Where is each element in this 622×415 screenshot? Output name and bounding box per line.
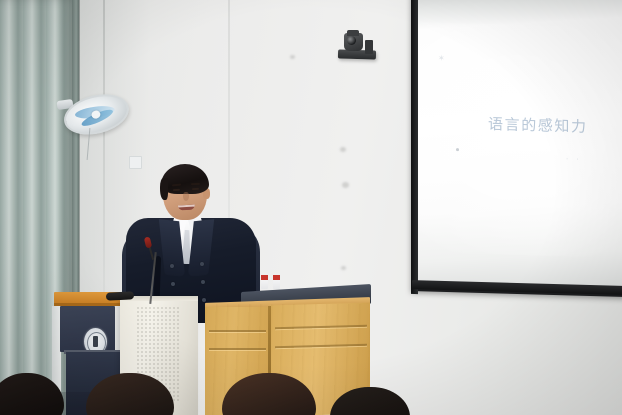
lectern-panel-groove: [209, 348, 266, 350]
microphone-base: [106, 291, 134, 300]
podium-emblem-panel: [60, 306, 115, 352]
suit-button: [170, 264, 174, 268]
slide-bullet-dot: [456, 148, 459, 151]
wall-scuff-1: [340, 147, 346, 152]
camera-lens-icon: [347, 36, 356, 45]
suit-button: [201, 280, 205, 284]
slide-subtitle-text: · ·: [566, 155, 582, 163]
hair-sideburn: [160, 178, 168, 200]
slide-title-text: 语言的感知力: [488, 113, 588, 137]
nose: [183, 192, 189, 201]
wall-scuff-3: [341, 266, 346, 270]
bottle-cap: [261, 275, 268, 280]
slide-logo-mark: ✶: [438, 54, 446, 63]
suit-button: [200, 262, 204, 266]
lectern-panel-groove: [209, 330, 266, 332]
wall-scuff-4: [290, 55, 295, 59]
camera-top-housing: [347, 30, 359, 36]
bottle-cap: [273, 275, 280, 280]
wall-scuff-2: [342, 182, 349, 188]
hair: [161, 164, 209, 194]
lecture-hall-photo: ✶ 语言的感知力 · ·: [0, 0, 622, 415]
projection-screen-surface[interactable]: ✶ 语言的感知力 · ·: [418, 0, 622, 287]
suit-button: [171, 282, 175, 286]
wall-seam: [103, 0, 105, 300]
projector-light-glow: [418, 21, 622, 259]
projection-screen-left-rail: [411, 0, 418, 294]
seal-center-mark: [93, 336, 98, 347]
camera-arm: [365, 40, 373, 54]
